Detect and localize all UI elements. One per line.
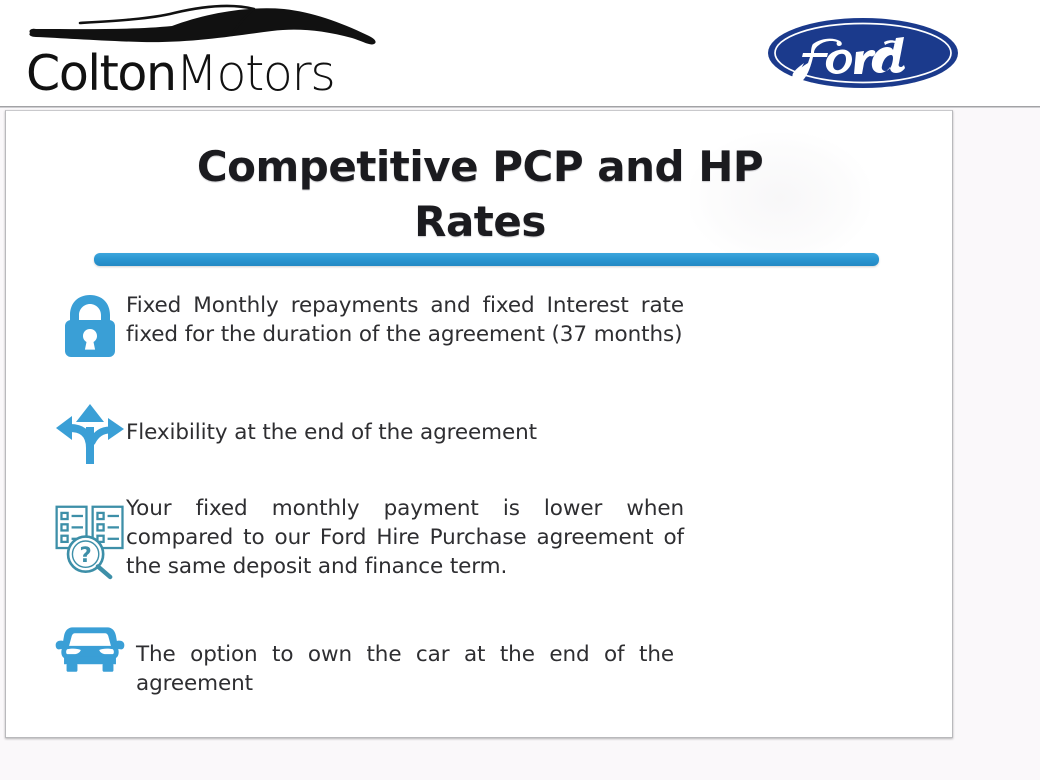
bullet-icon-slot: ? — [6, 494, 126, 584]
ford-oval-icon — [766, 16, 960, 90]
bullet-icon-slot — [6, 618, 126, 680]
padlock-icon — [61, 293, 119, 359]
car-front-icon — [54, 620, 126, 680]
title-divider-bar — [94, 253, 879, 266]
page-title: Competitive PCP and HP Rates — [6, 139, 953, 249]
documents-magnifier-question-icon: ? — [54, 498, 126, 584]
colton-motors-logo: ColtonMotors — [22, 4, 382, 104]
content-panel: Competitive PCP and HP Rates Fixed Month… — [5, 110, 953, 738]
list-item: ? Your fixed monthly payment is lower wh… — [6, 494, 953, 584]
list-item-text: Flexibility at the end of the agreement — [126, 402, 726, 447]
bullet-icon-slot — [6, 402, 126, 466]
list-item-text: The option to own the car at the end of … — [126, 618, 674, 698]
dealer-name-part1: Colton — [26, 45, 176, 102]
bullet-icon-slot — [6, 289, 126, 359]
svg-text:?: ? — [80, 542, 92, 567]
list-item: Fixed Monthly repayments and fixed Inter… — [6, 289, 953, 359]
list-item: The option to own the car at the end of … — [6, 618, 953, 698]
header-divider-line — [0, 106, 1040, 108]
dealer-name-part2: Motors — [176, 45, 335, 102]
list-item-text: Your fixed monthly payment is lower when… — [126, 494, 684, 581]
dealer-name: ColtonMotors — [26, 48, 334, 100]
three-way-arrows-icon — [54, 402, 126, 466]
benefits-list: Fixed Monthly repayments and fixed Inter… — [6, 289, 953, 698]
header-bar: ColtonMotors — [0, 0, 1040, 108]
slide-root: ColtonMotors Competitive PCP and HP Rate… — [0, 0, 1040, 780]
list-item-text: Fixed Monthly repayments and fixed Inter… — [126, 289, 684, 349]
list-item: Flexibility at the end of the agreement — [6, 402, 953, 466]
